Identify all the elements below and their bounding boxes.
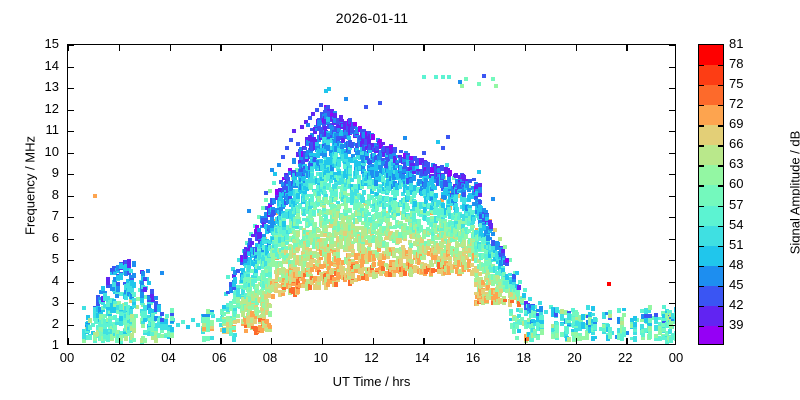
data-point [132,338,136,342]
data-point [233,308,237,311]
data-point [296,213,300,219]
data-point [485,214,489,217]
data-point [648,326,652,331]
data-point [271,294,275,299]
data-point [353,122,357,126]
data-point [132,318,136,323]
data-point [441,146,445,150]
data-point [147,281,151,285]
data-point [160,312,164,316]
data-point [641,337,645,340]
data-point [491,197,495,201]
data-point [441,75,445,79]
data-point [454,195,458,202]
data-point [491,232,495,236]
data-point [268,266,272,272]
data-point [146,269,150,273]
data-point [300,125,304,129]
data-point [119,292,123,296]
data-point [277,163,281,167]
data-point [306,123,310,127]
data-point [141,324,145,328]
data-point [375,207,379,211]
data-point [327,87,331,91]
data-point [333,113,337,118]
data-point [170,316,174,321]
data-point [633,322,637,327]
data-point [377,247,381,252]
data-point [403,136,407,140]
data-point [232,326,236,330]
data-point [88,325,92,330]
data-point [460,84,464,88]
data-point [292,158,296,164]
data-point [538,301,542,305]
data-point [518,280,522,284]
data-point [236,314,240,318]
data-point [593,317,597,322]
data-point [191,318,195,322]
data-point [350,142,354,148]
data-point [115,294,119,298]
data-point [633,336,637,342]
data-point [143,287,147,292]
data-point [591,313,595,316]
data-point [244,329,248,333]
data-point [620,317,624,321]
data-point [135,305,139,309]
data-point [170,308,174,313]
data-point [164,319,168,324]
data-point [528,297,532,301]
data-point [478,200,482,204]
data-point [262,234,266,237]
data-point [322,205,326,208]
data-point [539,308,543,312]
data-point [523,288,527,292]
data-point [540,329,544,335]
data-point [308,116,312,120]
data-point [517,329,521,332]
data-point [477,82,481,86]
data-point [622,313,626,317]
data-point [374,274,378,278]
data-point [581,314,585,320]
data-point [264,198,268,202]
data-point [433,186,437,190]
data-point [281,155,285,159]
data-point [648,305,652,310]
data-point [364,105,368,109]
data-point [641,333,645,337]
data-point [88,335,92,340]
data-point [509,309,513,313]
data-point [517,285,521,290]
data-point [441,174,445,179]
data-point [648,318,652,323]
data-point [186,325,190,329]
data-point [319,257,323,260]
data-point [505,259,509,262]
data-point [371,134,375,140]
data-point [132,282,136,287]
data-point [273,172,277,176]
data-point [350,178,354,182]
data-point [132,328,136,333]
data-point [567,337,571,342]
data-point [82,306,86,310]
data-point [515,271,519,275]
data-point [591,306,595,311]
data-point [482,74,486,78]
data-point [132,292,136,297]
data-point [143,277,147,280]
data-point [478,187,482,193]
data-point [436,140,440,144]
data-point [471,225,475,228]
data-point [106,277,110,282]
data-point [268,189,272,193]
data-point [522,293,526,298]
data-point [261,206,265,210]
data-point [253,318,257,324]
data-point [477,170,481,174]
scatter-data-layer [68,45,675,344]
data-point [264,191,268,195]
data-point [196,323,200,327]
data-point [412,175,416,179]
data-point [446,135,450,139]
data-point [296,142,300,146]
data-point [447,207,451,212]
data-point [268,311,272,317]
data-point [129,269,133,273]
data-point [344,97,348,101]
data-point [381,142,385,145]
data-point [289,138,293,142]
data-point [515,336,519,340]
data-point [210,320,214,326]
data-point [565,328,569,334]
data-point [154,296,158,300]
data-point [247,209,251,213]
data-point [378,101,382,105]
data-point [536,335,540,340]
data-point [296,231,300,237]
data-point [181,320,185,324]
data-point [489,223,493,229]
data-point [498,237,502,241]
data-point [510,300,514,303]
data-point [319,103,323,107]
data-point [544,310,548,314]
data-point [210,312,214,315]
data-point [608,314,612,318]
data-point [434,75,438,79]
page-title: 2026-01-11 [0,10,744,26]
data-point [434,193,438,198]
data-point [160,271,164,275]
data-point [608,327,612,333]
data-point [113,315,117,320]
data-point [210,336,214,340]
data-point [336,252,340,258]
data-point [270,168,274,172]
data-point [395,190,399,196]
data-point [88,318,92,323]
data-point [140,298,144,303]
data-point [447,75,451,79]
data-point [116,286,120,292]
data-point [233,333,237,337]
data-point [422,151,426,155]
data-point [285,146,289,150]
data-point [292,129,296,133]
data-point [233,277,237,284]
data-point [464,77,468,81]
data-point [622,332,626,335]
ionogram-figure: 2026-01-11 00020406081012141618202200 12… [0,0,800,400]
data-point [176,323,180,327]
data-point [493,228,497,232]
data-point [268,304,272,308]
data-point [272,181,276,185]
data-point [132,274,136,278]
data-point [132,261,136,267]
data-point [648,333,652,339]
data-point [347,136,351,140]
data-point [236,319,240,323]
data-point [633,316,637,321]
data-point [312,210,316,216]
data-point [268,325,272,329]
data-point [593,324,597,330]
data-point [593,336,597,339]
data-point [393,148,397,153]
data-point [315,108,319,112]
data-point [458,80,462,84]
data-point [226,275,230,279]
data-point [491,77,495,81]
plot-area[interactable] [67,44,676,345]
data-point [540,324,544,328]
data-point [143,338,147,343]
data-point [157,305,161,308]
data-point [141,271,145,276]
data-point [447,177,451,181]
data-point [170,327,174,332]
data-point [494,84,498,88]
data-point [512,274,516,279]
data-point [132,305,136,308]
data-point [250,241,254,245]
data-point [311,112,315,116]
data-point [622,308,626,311]
data-point [505,263,509,266]
data-point [519,310,523,313]
data-point [296,289,300,294]
data-point [170,333,174,338]
